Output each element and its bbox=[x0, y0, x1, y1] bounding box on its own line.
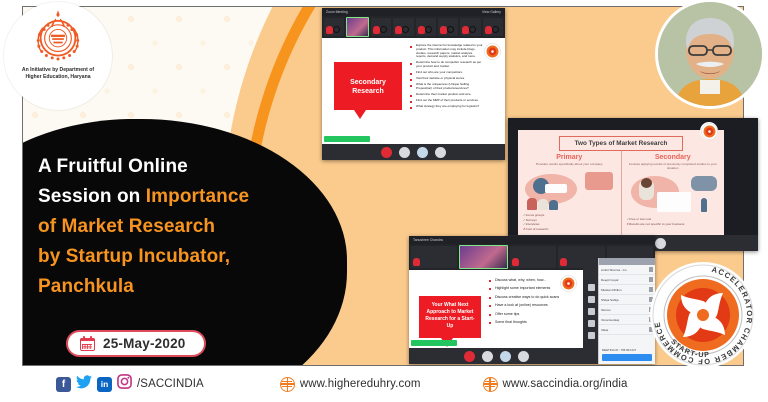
primary-subtitle: Provides results specifically about your… bbox=[523, 162, 616, 166]
secondary-illustration bbox=[627, 172, 720, 216]
headline-highlight-4: Panchkula bbox=[38, 276, 134, 297]
market-research-infographic: Two Types of Market Research Primary Pro… bbox=[518, 130, 724, 237]
zoom-header-right: View Gallery bbox=[482, 10, 501, 14]
participants-panel-header bbox=[599, 258, 655, 265]
linkedin-icon[interactable]: in bbox=[97, 377, 112, 392]
camera-button[interactable] bbox=[482, 351, 493, 362]
list-item: Highlight some important elements bbox=[489, 286, 563, 290]
list-item: What strategy they are employing for log… bbox=[410, 105, 483, 109]
share-screen-button[interactable] bbox=[500, 351, 511, 362]
primary-column: Primary Provides results specifically ab… bbox=[518, 151, 621, 236]
website-link-1-label: www.highereduhry.com bbox=[300, 378, 421, 390]
participant-tile-self[interactable] bbox=[459, 245, 507, 269]
headline-highlight-3: by Startup Incubator, bbox=[38, 246, 230, 267]
emblem-caption: An Initiative by Department of Higher Ed… bbox=[10, 67, 106, 81]
list-item: Find out who are your competitors. bbox=[410, 71, 483, 75]
calendar-icon bbox=[80, 336, 95, 351]
participant-tile-self[interactable] bbox=[346, 17, 368, 37]
screenshot-approach-slide[interactable]: Tanushree Chandra Your What Next Approac… bbox=[409, 236, 655, 364]
list-item[interactable]: Muskan Dhillon bbox=[599, 285, 655, 295]
zoom-control-bar[interactable] bbox=[322, 144, 505, 160]
headline-highlight-1: Importance bbox=[146, 186, 249, 207]
headline-line-1: A Fruitful Online bbox=[38, 156, 188, 177]
slide-red-callout: Your What Next Approach to Market Resear… bbox=[419, 296, 481, 338]
slide-bullet-list: Explore the internet for knowledge relat… bbox=[410, 44, 483, 111]
primary-points: Focus groups Surveys Interviews Cost of … bbox=[523, 213, 616, 232]
footer-bar: f in /SACCINDIA www.highereduhry.com www… bbox=[0, 366, 768, 402]
event-date: 25-May-2020 bbox=[103, 336, 186, 351]
list-item: Visit their website or physical stores. bbox=[410, 77, 483, 81]
list-item: Find out the MRP of their products or se… bbox=[410, 99, 483, 103]
slide-red-callout: Secondary Research bbox=[334, 62, 402, 110]
zoom-header-left: Tanushree Chandra bbox=[413, 238, 443, 242]
list-item: Cost of research bbox=[523, 227, 616, 232]
zoom-control-bar[interactable] bbox=[409, 348, 583, 364]
slide-callout-text: Your What Next Approach to Market Resear… bbox=[419, 296, 481, 336]
headline-line-2: Session on bbox=[38, 186, 146, 207]
slide-bullet-list: Discuss what, why, when, how... Highligh… bbox=[489, 278, 563, 327]
list-item[interactable]: Deepti Goyal bbox=[599, 275, 655, 285]
list-item: Determine their market position and size… bbox=[410, 93, 483, 97]
slide-seal-logo bbox=[700, 122, 718, 140]
secondary-subtitle: Involves applying results of previously … bbox=[627, 162, 720, 170]
primary-heading: Primary bbox=[523, 154, 616, 161]
toolbar-icon[interactable] bbox=[588, 308, 595, 315]
emblem-caption-line-1: An Initiative by Department of bbox=[22, 67, 94, 73]
list-item[interactable]: Shilpa Sahija bbox=[599, 295, 655, 305]
participant-tile[interactable] bbox=[510, 246, 556, 268]
zoom-window-header: Tanushree Chandra bbox=[409, 236, 655, 244]
instagram-icon[interactable] bbox=[117, 374, 132, 394]
mute-button[interactable] bbox=[464, 351, 475, 362]
participant-tile[interactable] bbox=[438, 18, 458, 36]
list-item[interactable]: Vimal Aentkej bbox=[599, 315, 655, 325]
sacc-logo: ACCELERATOR CHAMBER OF COMMERCE START-UP bbox=[650, 262, 756, 368]
recording-indicator bbox=[324, 136, 370, 142]
zoom-window-header: Zoom Meeting View Gallery bbox=[322, 8, 505, 16]
participant-filmstrip[interactable] bbox=[322, 16, 505, 38]
zoom-header-left: Zoom Meeting bbox=[326, 10, 348, 14]
infographic-title: Two Types of Market Research bbox=[559, 136, 683, 151]
list-item[interactable]: Ambit Sharma - Co bbox=[599, 265, 655, 275]
participant-name: Shilpa Sahija bbox=[601, 298, 619, 302]
globe-icon bbox=[483, 377, 498, 392]
leave-button[interactable] bbox=[518, 351, 529, 362]
list-item: Discuss creative ways to do quick scans bbox=[489, 295, 563, 299]
emblem-caption-line-2: Higher Education, Haryana bbox=[25, 74, 90, 80]
leave-button[interactable] bbox=[655, 238, 666, 249]
twitter-icon[interactable] bbox=[76, 375, 92, 394]
avatar bbox=[658, 2, 762, 106]
website-link-1[interactable]: www.highereduhry.com bbox=[280, 377, 421, 392]
zoom-side-toolbar[interactable] bbox=[583, 258, 599, 364]
share-screen-button[interactable] bbox=[417, 147, 428, 158]
website-link-2-label: www.saccindia.org/india bbox=[503, 378, 628, 390]
list-item: Some final thoughts bbox=[489, 320, 563, 324]
participant-tile[interactable] bbox=[371, 18, 391, 36]
participant-tile[interactable] bbox=[460, 18, 480, 36]
invite-others-button[interactable] bbox=[602, 354, 652, 361]
leave-button[interactable] bbox=[435, 147, 446, 158]
date-badge: 25-May-2020 bbox=[66, 330, 206, 357]
participant-name: Muskan Dhillon bbox=[601, 288, 622, 292]
list-item: Discuss what, why, when, how... bbox=[489, 278, 563, 282]
toolbar-icon[interactable] bbox=[588, 332, 595, 339]
list-item[interactable]: Simran bbox=[599, 305, 655, 315]
list-item: Determine how to do competitor research … bbox=[410, 61, 483, 69]
shared-slide: Your What Next Approach to Market Resear… bbox=[409, 270, 583, 364]
poster-canvas: A Fruitful Online Session on Importance … bbox=[0, 0, 768, 402]
recording-indicator bbox=[411, 340, 457, 346]
slide-seal-logo bbox=[483, 42, 501, 60]
participant-tile[interactable] bbox=[483, 18, 503, 36]
participant-name: Deepti Goyal bbox=[601, 278, 618, 282]
screenshot-secondary-research[interactable]: Zoom Meeting View Gallery Secondary Rese… bbox=[322, 8, 505, 160]
social-links: f in /SACCINDIA bbox=[56, 374, 204, 394]
slide-seal-logo bbox=[559, 274, 577, 292]
website-link-2[interactable]: www.saccindia.org/india bbox=[483, 377, 628, 392]
portrait-illustration-icon bbox=[658, 2, 762, 106]
toolbar-icon[interactable] bbox=[588, 296, 595, 303]
camera-button[interactable] bbox=[399, 147, 410, 158]
headline-highlight-2: of Market Research bbox=[38, 216, 215, 237]
sacc-swirl-logo-icon: ACCELERATOR CHAMBER OF COMMERCE START-UP bbox=[651, 263, 755, 367]
globe-icon bbox=[280, 377, 295, 392]
list-item: Explore the internet for knowledge relat… bbox=[410, 44, 483, 59]
toolbar-icon[interactable] bbox=[588, 320, 595, 327]
toolbar-icon[interactable] bbox=[588, 284, 595, 291]
primary-illustration bbox=[523, 168, 616, 212]
haryana-state-emblem-icon bbox=[29, 8, 87, 66]
facebook-icon[interactable]: f bbox=[56, 377, 71, 392]
participants-panel[interactable]: Ambit Sharma - Co Deepti Goyal Muskan Dh… bbox=[598, 258, 655, 364]
list-item: Have a look at (online) resources bbox=[489, 303, 563, 307]
social-handle: /SACCINDIA bbox=[137, 378, 204, 390]
mute-button[interactable] bbox=[381, 147, 392, 158]
meeting-id-label: MEETING ID : 786 824 027 bbox=[602, 348, 636, 352]
secondary-column: Secondary Involves applying results of p… bbox=[621, 151, 725, 236]
screenshot-market-research-types[interactable]: Two Types of Market Research Primary Pro… bbox=[508, 118, 758, 251]
list-item: Results are not specific to your busines… bbox=[627, 222, 720, 227]
list-item: Offer some tips bbox=[489, 312, 563, 316]
slide-callout-tail bbox=[354, 110, 366, 119]
list-item: What is the uniqueness (Unique Selling P… bbox=[410, 83, 483, 91]
participant-name: Vikas bbox=[601, 328, 608, 332]
participant-tile[interactable] bbox=[416, 18, 436, 36]
list-item[interactable]: Vikas bbox=[599, 325, 655, 335]
participant-name: Ambit Sharma - Co bbox=[601, 268, 627, 272]
shared-slide: Secondary Research Explore the internet … bbox=[322, 38, 505, 160]
participant-name: Vimal Aentkej bbox=[601, 318, 619, 322]
slide-callout-text: Secondary Research bbox=[334, 62, 402, 96]
participant-tile[interactable] bbox=[393, 18, 413, 36]
secondary-heading: Secondary bbox=[627, 154, 720, 161]
haryana-emblem-badge: An Initiative by Department of Higher Ed… bbox=[4, 2, 112, 110]
participant-tile[interactable] bbox=[324, 18, 344, 36]
secondary-points: Free or low cost Results are not specifi… bbox=[627, 217, 720, 226]
participant-tile[interactable] bbox=[411, 246, 457, 268]
page-title: A Fruitful Online Session on Importance … bbox=[38, 152, 306, 302]
participant-name: Simran bbox=[601, 308, 611, 312]
